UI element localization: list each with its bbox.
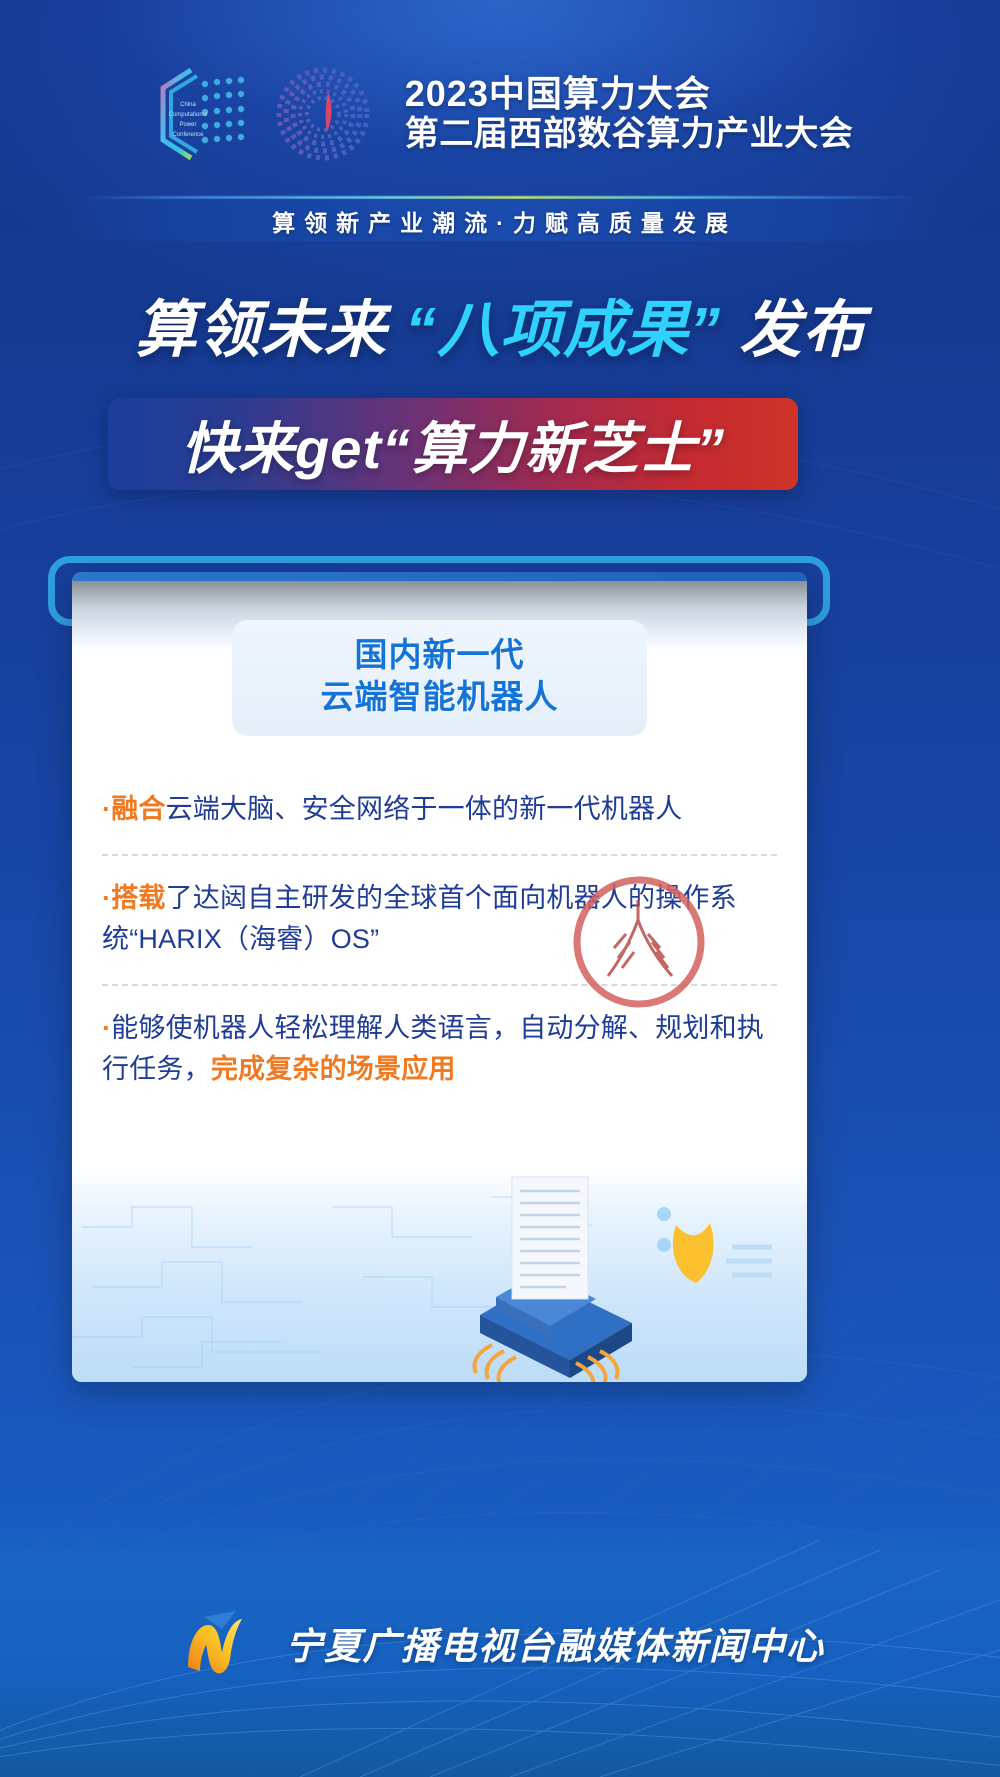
card-title-line2: 云端智能机器人 xyxy=(232,676,647,718)
ningxia-broadcast-n-logo xyxy=(176,1607,268,1679)
footer-brand-text: 宁夏广播电视台融媒体新闻中心 xyxy=(286,1616,825,1670)
bullet-trailing-highlight-2: 完成复杂的场景应用 xyxy=(211,1054,456,1084)
headline-line1-part3: 发布 xyxy=(739,296,865,365)
card-illustration xyxy=(72,1167,807,1382)
peacock-emblem-logo xyxy=(271,62,375,166)
headline-line2: 快来get“算力新芝士” xyxy=(108,398,798,490)
conference-title-line2: 第二届西部数谷算力产业大会 xyxy=(405,115,854,154)
result-card: 国内新一代 云端智能机器人 ·融合云端大脑、安全网络于一体的新一代机器人 ·搭载… xyxy=(72,572,807,1382)
footer-brand-row: 宁夏广播电视台融媒体新闻中心 xyxy=(0,1588,1000,1698)
conference-title-line1: 2023中国算力大会 xyxy=(405,73,854,115)
bullet-marker-2: · xyxy=(102,1013,111,1043)
poster-root: China Computational Power Conference xyxy=(0,0,1000,1777)
bullet-text-0: 云端大脑、安全网络于一体的新一代机器人 xyxy=(166,794,683,824)
logo-text-china: China xyxy=(180,102,196,108)
card-title-pill: 国内新一代 云端智能机器人 xyxy=(232,620,647,736)
headline-line1-part1: 算领未来 xyxy=(135,296,387,365)
red-stamp-icon xyxy=(564,872,714,1012)
headline-line1-part2: “八项成果” xyxy=(405,296,721,365)
document-sheet xyxy=(512,1177,588,1299)
china-computational-power-conference-logo: China Computational Power Conference xyxy=(147,62,255,166)
headline-line1: 算领未来 “八项成果” 发布 xyxy=(0,300,1000,362)
logo-text-conference: Conference xyxy=(172,132,204,138)
speed-lines xyxy=(726,1247,772,1275)
list-item: ·融合云端大脑、安全网络于一体的新一代机器人 xyxy=(72,767,807,854)
bullet-highlight-1: 搭载 xyxy=(111,883,165,913)
logo-text-computational: Computational xyxy=(168,112,207,118)
card-title-line1: 国内新一代 xyxy=(232,634,647,676)
slogan-text: 算领新产业潮流·力赋高质量发展 xyxy=(0,204,1000,238)
bullet-marker-1: · xyxy=(102,883,111,913)
bullet-highlight-0: 融合 xyxy=(111,794,165,824)
bullet-marker-0: · xyxy=(102,794,111,824)
slogan-bar: 算领新产业潮流·力赋高质量发展 xyxy=(0,196,1000,242)
poster-header: China Computational Power Conference xyxy=(0,62,1000,166)
logo-text-power: Power xyxy=(179,122,196,128)
yellow-leaf-shape xyxy=(673,1223,714,1283)
conference-title: 2023中国算力大会 第二届西部数谷算力产业大会 xyxy=(405,73,854,154)
